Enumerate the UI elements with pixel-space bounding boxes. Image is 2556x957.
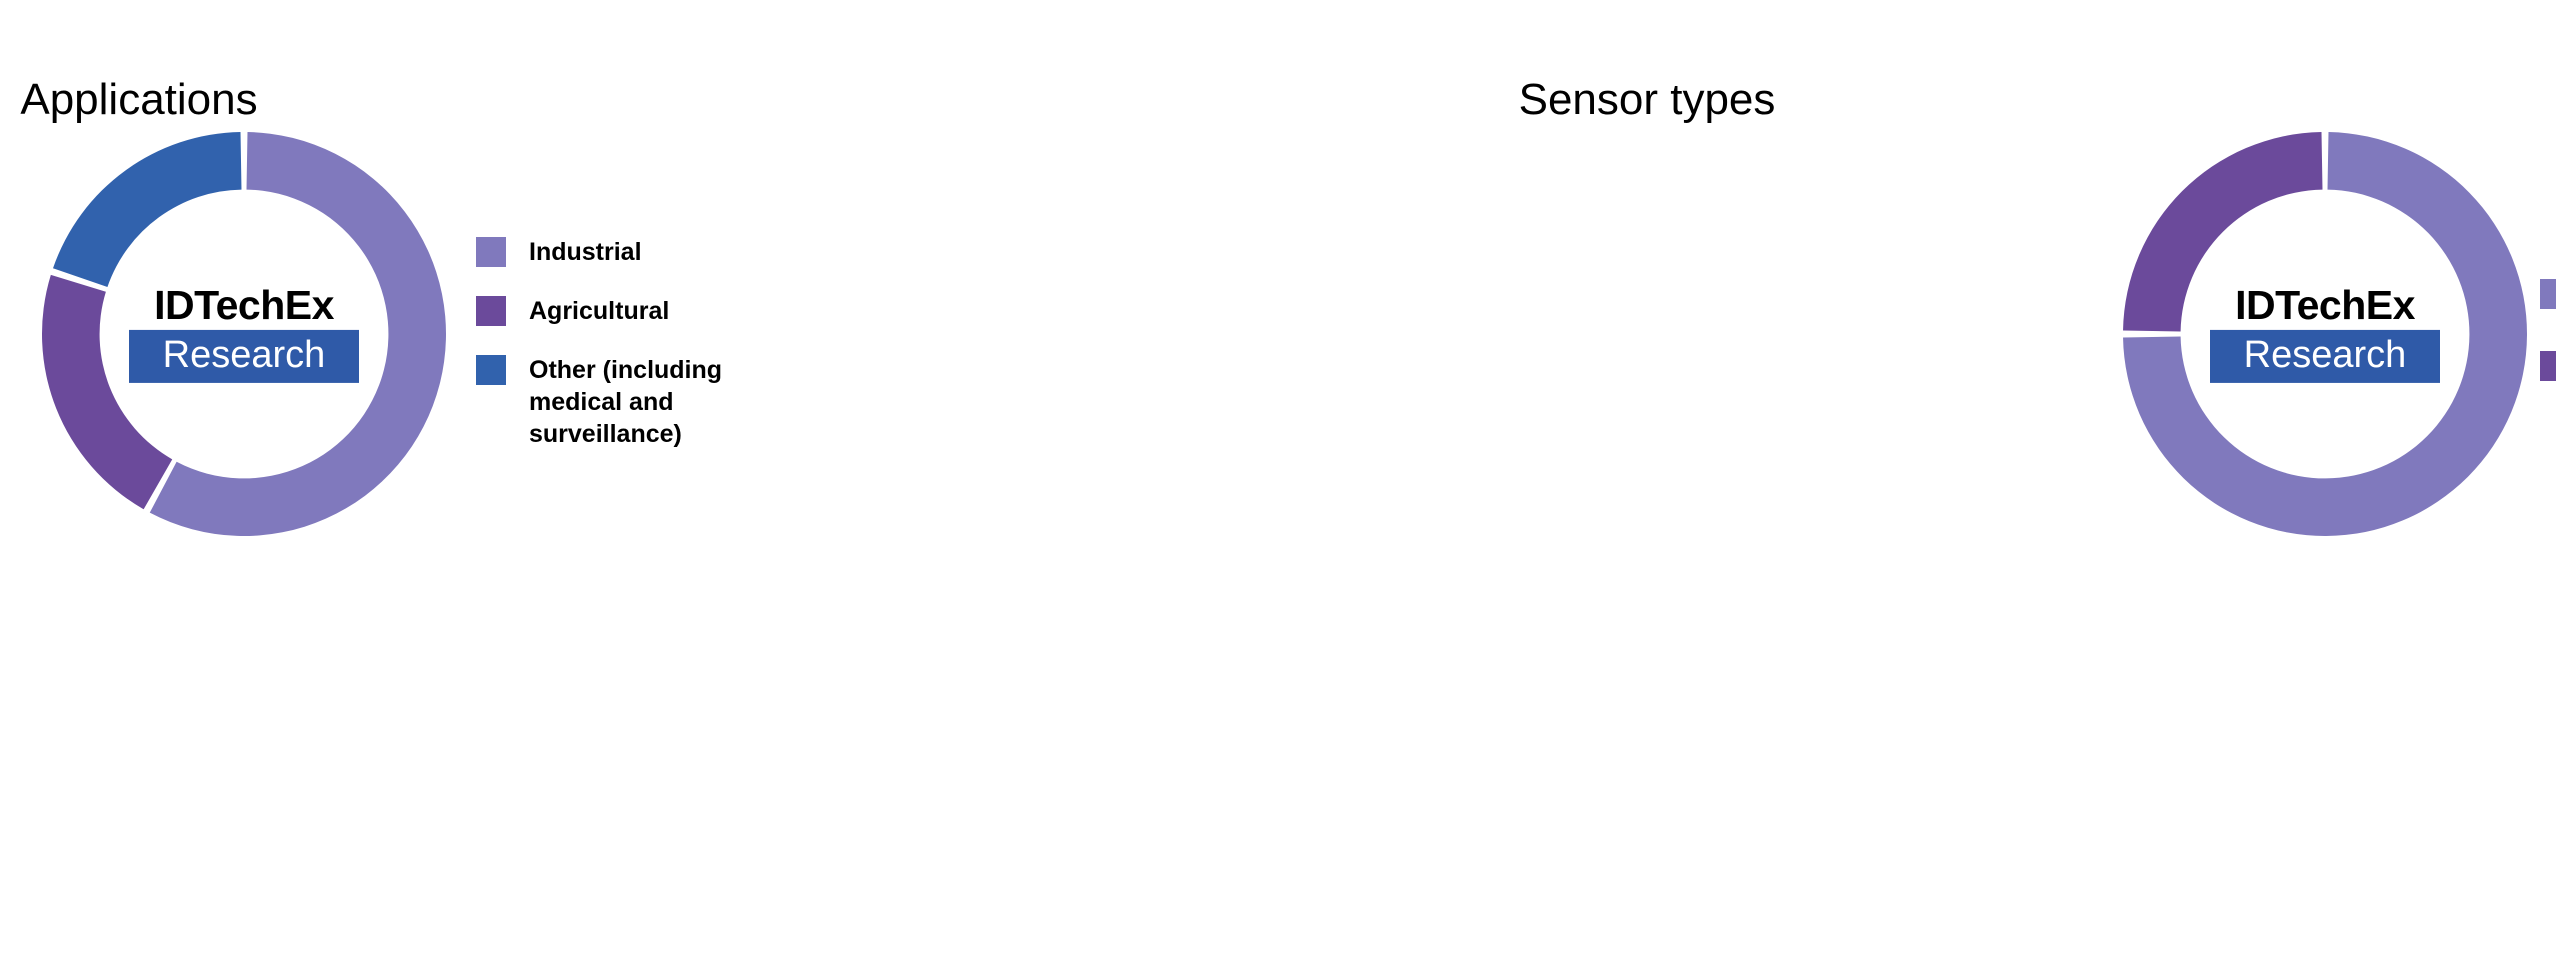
donut-chart-applications: IDTechEx Research: [42, 132, 446, 536]
legend-item-longer-wavelength[interactable]: Longer wavelength (>1000 nm): [2540, 350, 2556, 414]
donut-slice[interactable]: [53, 132, 242, 287]
legend-item-visible[interactable]: Visible: [2540, 278, 2556, 310]
legend-swatch-icon: [476, 296, 506, 326]
donut-chart-sensor-types: IDTechEx Research: [2123, 132, 2527, 536]
legend-item-industrial[interactable]: Industrial: [476, 236, 776, 268]
legend-swatch-icon: [2540, 279, 2556, 309]
chart-panel-sensor-types: Sensor types IDTechEx Research Visible L…: [1278, 0, 2556, 957]
legend-applications: Industrial Agricultural Other (including…: [476, 236, 776, 477]
logo-research-badge: Research: [2210, 330, 2440, 383]
logo-wordmark: IDTechEx: [129, 285, 359, 327]
legend-item-label: Industrial: [529, 236, 642, 268]
idtechex-logo-sensor-types: IDTechEx Research: [2210, 285, 2440, 383]
legend-swatch-icon: [476, 237, 506, 267]
legend-item-label: Agricultural: [529, 295, 669, 327]
figure-canvas: Applications IDTechEx Research Industria…: [0, 0, 2556, 957]
legend-item-label: Other (including medical and surveillanc…: [529, 354, 722, 450]
chart-panel-applications: Applications IDTechEx Research Industria…: [0, 0, 1278, 957]
legend-item-agricultural[interactable]: Agricultural: [476, 295, 776, 327]
legend-swatch-icon: [476, 355, 506, 385]
legend-sensor-types: Visible Longer wavelength (>1000 nm): [2540, 278, 2556, 454]
logo-wordmark: IDTechEx: [2210, 285, 2440, 327]
page-title-sensor-types: Sensor types: [1008, 75, 2286, 125]
idtechex-logo-applications: IDTechEx Research: [129, 285, 359, 383]
page-title-applications: Applications: [0, 75, 778, 125]
legend-item-other[interactable]: Other (including medical and surveillanc…: [476, 354, 776, 450]
legend-swatch-icon: [2540, 351, 2556, 381]
logo-research-badge: Research: [129, 330, 359, 383]
